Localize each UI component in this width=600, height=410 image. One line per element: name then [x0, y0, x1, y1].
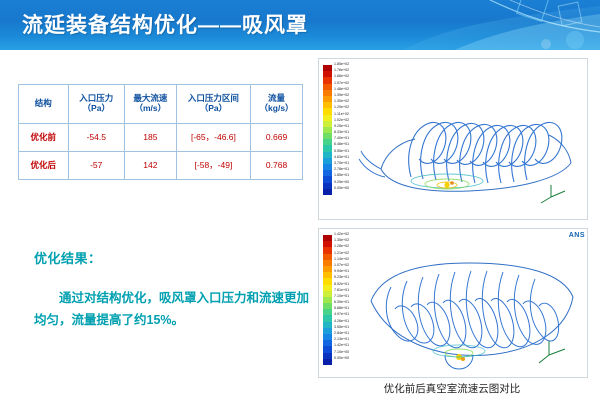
column-header-structure: 结构 — [19, 85, 69, 124]
cfd-before-plot — [319, 59, 587, 219]
comparison-table: 结构 入口压力 （Pa） 最大流速 （m/s） 入口压力区间 （Pa） — [18, 84, 303, 180]
column-header-max-velocity-label: 最大流速 — [133, 93, 167, 103]
colorbar-tick: 1.85e+01 — [334, 172, 349, 178]
colorbar-tick: 4.97e+01 — [334, 311, 349, 317]
column-header-flow-rate-unit: （kg/s） — [252, 104, 301, 114]
column-header-max-velocity-unit: （m/s） — [126, 104, 175, 114]
column-header-structure-label: 结构 — [35, 98, 52, 108]
colorbar-tick: 1.21e+02 — [334, 250, 349, 256]
cfd-figure-before: 1.85e+02 1.76e+02 1.66e+02 1.57e+02 1.48… — [318, 58, 588, 220]
colorbar-tick: 1.57e+02 — [334, 80, 349, 86]
colorbar-tick: 9.23e+01 — [334, 274, 349, 280]
column-header-pressure-range-label: 入口压力区间 — [188, 93, 239, 103]
cfd-figure-after: 1.42e+02 1.35e+02 1.28e+02 1.21e+02 1.14… — [318, 228, 588, 378]
column-header-pressure-range: 入口压力区间 （Pa） — [176, 85, 250, 124]
result-heading: 优化结果： — [34, 248, 102, 267]
cell-pressure-range-after: [-58，-49] — [176, 152, 250, 180]
slide-header: 流延装备结构优化——吸风罩 — [0, 0, 600, 52]
figure-caption: 优化前后真空室流速云图对比 — [318, 381, 586, 396]
colorbar-tick: 0.00e+00 — [334, 185, 349, 191]
table-header-row: 结构 入口压力 （Pa） 最大流速 （m/s） 入口压力区间 （Pa） — [19, 85, 303, 124]
column-header-flow-rate: 流量 （kg/s） — [251, 85, 303, 124]
cell-flow-rate-after: 0.768 — [251, 152, 303, 180]
colorbar-tick: 7.81e+01 — [334, 287, 349, 293]
cell-flow-rate-before: 0.669 — [251, 124, 303, 152]
colorbar-tick: 5.55e+01 — [334, 148, 349, 154]
table-row: 优化后 -57 142 [-58，-49] 0.768 — [19, 152, 303, 180]
colorbar-tick: 1.28e+02 — [334, 243, 349, 249]
column-header-max-velocity: 最大流速 （m/s） — [124, 85, 176, 124]
colorbar-after — [323, 235, 332, 365]
cell-pressure-range-before: [-65，-46.6] — [176, 124, 250, 152]
cell-inlet-pressure-before: -54.5 — [68, 124, 124, 152]
cell-max-velocity-after: 142 — [124, 152, 176, 180]
colorbar-tick: 1.02e+02 — [334, 117, 349, 123]
colorbar-tick: 7.10e+00 — [334, 349, 349, 355]
colorbar-tick: 0.00e+00 — [334, 355, 349, 361]
colorbar-before-labels: 1.85e+02 1.76e+02 1.66e+02 1.57e+02 1.48… — [334, 61, 349, 191]
column-header-pressure-range-unit: （Pa） — [178, 104, 249, 114]
slide: 流延装备结构优化——吸风罩 结构 入口压力 （Pa） 最大流速 — [0, 0, 600, 410]
column-header-flow-rate-label: 流量 — [268, 93, 285, 103]
cell-max-velocity-before: 185 — [124, 124, 176, 152]
colorbar-after-labels: 1.42e+02 1.35e+02 1.28e+02 1.21e+02 1.14… — [334, 231, 349, 361]
table-row: 优化前 -54.5 185 [-65，-46.6] 0.669 — [19, 124, 303, 152]
cell-inlet-pressure-after: -57 — [68, 152, 124, 180]
cell-structure-before: 优化前 — [19, 124, 69, 152]
cfd-after-plot — [319, 229, 587, 377]
header-decoration-icon — [370, 0, 600, 52]
colorbar-tick: 1.66e+02 — [334, 73, 349, 79]
colorbar-tick: 6.48e+01 — [334, 141, 349, 147]
colorbar-tick: 9.25e+00 — [334, 179, 349, 185]
colorbar-tick: 8.52e+01 — [334, 281, 349, 287]
colorbar-tick: 1.20e+02 — [334, 104, 349, 110]
colorbar-tick: 1.11e+02 — [334, 111, 349, 117]
cell-structure-after: 优化后 — [19, 152, 69, 180]
header-divider — [0, 50, 600, 52]
column-header-inlet-pressure-unit: （Pa） — [70, 104, 123, 114]
comparison-table-wrapper: 结构 入口压力 （Pa） 最大流速 （m/s） 入口压力区间 （Pa） — [18, 84, 303, 180]
colorbar-tick: 4.26e+01 — [334, 318, 349, 324]
ansys-watermark: ANS — [569, 232, 585, 239]
colorbar-tick: 1.42e+01 — [334, 342, 349, 348]
result-paragraph: 通过对结构优化，吸风罩入口压力和流速更加均匀，流量提高了约15%。 — [34, 288, 314, 332]
column-header-inlet-pressure-label: 入口压力 — [79, 93, 113, 103]
page-title: 流延装备结构优化——吸风罩 — [22, 9, 308, 39]
column-header-inlet-pressure: 入口压力 （Pa） — [68, 85, 124, 124]
colorbar-before — [323, 65, 332, 195]
